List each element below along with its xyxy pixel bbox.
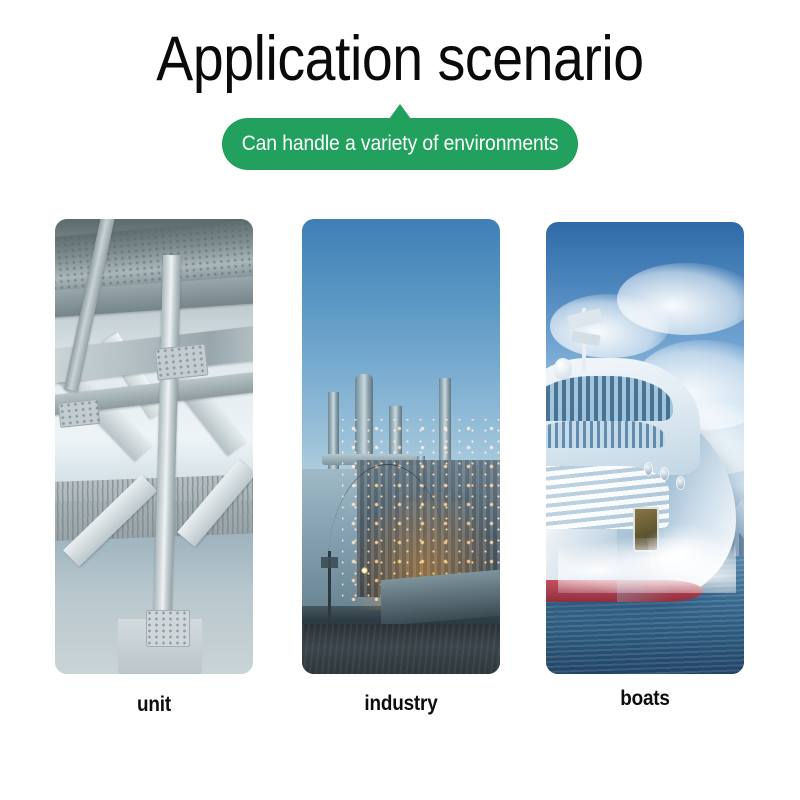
rivet-pattern xyxy=(58,399,100,428)
ship-porthole xyxy=(677,477,684,489)
rivet-pattern xyxy=(146,610,190,646)
subtitle-banner: Can handle a variety of environments xyxy=(222,104,578,170)
caption-unit: unit xyxy=(65,693,243,717)
foreground-field xyxy=(302,624,500,674)
cruise-ship-photo xyxy=(546,222,744,674)
water-spray xyxy=(645,515,732,589)
bridge-base-plate xyxy=(146,610,190,646)
refinery-photo xyxy=(302,219,500,674)
application-scenario-page: Application scenario Can handle a variet… xyxy=(0,0,800,800)
banner-notch-icon xyxy=(389,104,411,119)
gallery-captions: unit industry boats xyxy=(55,690,750,724)
caption-boats: boats xyxy=(556,687,734,711)
scenario-image-industry[interactable] xyxy=(302,219,500,674)
caption-industry: industry xyxy=(312,692,490,716)
bridge-gusset-plate xyxy=(58,399,100,428)
ship-window-band xyxy=(546,421,665,448)
ship-porthole xyxy=(661,468,668,480)
banner-label: Can handle a variety of environments xyxy=(242,132,559,156)
ship-radar-dome xyxy=(554,358,572,381)
rivet-pattern xyxy=(154,344,209,381)
scenario-gallery xyxy=(55,219,750,674)
bridge-gusset-plate xyxy=(154,344,209,381)
bridge-truss-photo xyxy=(55,219,253,674)
cloud xyxy=(617,263,744,335)
scenario-image-unit[interactable] xyxy=(55,219,253,674)
scenario-image-boats[interactable] xyxy=(546,222,744,674)
page-title: Application scenario xyxy=(48,28,752,91)
banner-pill: Can handle a variety of environments xyxy=(222,118,578,170)
